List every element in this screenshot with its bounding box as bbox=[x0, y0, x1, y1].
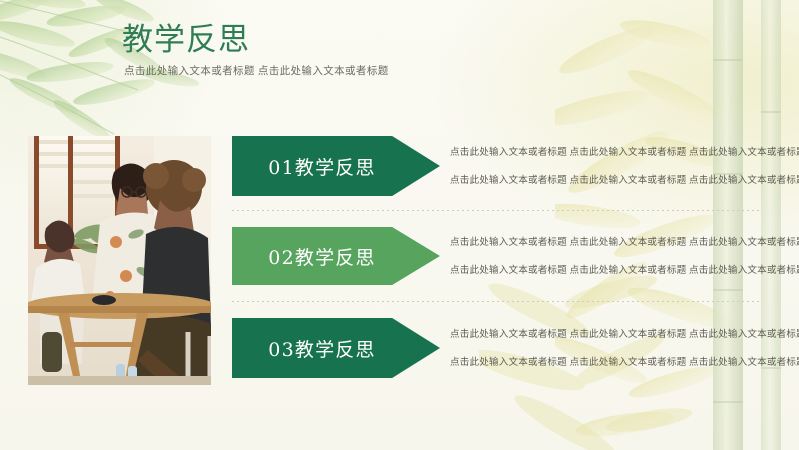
photo-illustration bbox=[28, 136, 211, 385]
section-body-line: 点击此处输入文本或者标题 点击此处输入文本或者标题 点击此处输入文本或者标题 bbox=[450, 356, 763, 369]
section-banner-label-1: 01教学反思 bbox=[268, 153, 375, 180]
slide-header: 教学反思 点击此处输入文本或者标题 点击此处输入文本或者标题 bbox=[122, 22, 542, 79]
section-banner-2[interactable]: 02教学反思 bbox=[232, 227, 440, 285]
section-banner-label-2: 02教学反思 bbox=[268, 243, 375, 270]
slide-canvas: 教学反思 点击此处输入文本或者标题 点击此处输入文本或者标题 bbox=[0, 0, 799, 450]
section-body-line: 点击此处输入文本或者标题 点击此处输入文本或者标题 点击此处输入文本或者标题 bbox=[450, 174, 763, 187]
section-body-2: 点击此处输入文本或者标题 点击此处输入文本或者标题 点击此处输入文本或者标题 点… bbox=[450, 227, 763, 285]
section-row-1: 01教学反思 点击此处输入文本或者标题 点击此处输入文本或者标题 点击此处输入文… bbox=[232, 136, 785, 196]
page-subtitle: 点击此处输入文本或者标题 点击此处输入文本或者标题 bbox=[124, 64, 542, 79]
section-divider-2 bbox=[232, 301, 762, 302]
photo-meeting-women bbox=[28, 136, 211, 385]
section-divider-1 bbox=[232, 210, 762, 211]
section-body-1: 点击此处输入文本或者标题 点击此处输入文本或者标题 点击此处输入文本或者标题 点… bbox=[450, 136, 763, 196]
section-row-3: 03教学反思 点击此处输入文本或者标题 点击此处输入文本或者标题 点击此处输入文… bbox=[232, 318, 785, 378]
section-body-line: 点击此处输入文本或者标题 点击此处输入文本或者标题 点击此处输入文本或者标题 bbox=[450, 264, 763, 277]
section-body-line: 点击此处输入文本或者标题 点击此处输入文本或者标题 点击此处输入文本或者标题 bbox=[450, 328, 763, 341]
section-body-line: 点击此处输入文本或者标题 点击此处输入文本或者标题 点击此处输入文本或者标题 bbox=[450, 236, 763, 249]
section-row-2: 02教学反思 点击此处输入文本或者标题 点击此处输入文本或者标题 点击此处输入文… bbox=[232, 227, 785, 285]
bamboo-stalks-right-icon bbox=[555, 0, 799, 450]
section-body-line: 点击此处输入文本或者标题 点击此处输入文本或者标题 点击此处输入文本或者标题 bbox=[450, 146, 763, 159]
section-banner-3[interactable]: 03教学反思 bbox=[232, 318, 440, 378]
section-body-3: 点击此处输入文本或者标题 点击此处输入文本或者标题 点击此处输入文本或者标题 点… bbox=[450, 318, 763, 378]
page-title: 教学反思 bbox=[122, 22, 542, 58]
section-banner-1[interactable]: 01教学反思 bbox=[232, 136, 440, 196]
section-banner-label-3: 03教学反思 bbox=[268, 335, 375, 362]
